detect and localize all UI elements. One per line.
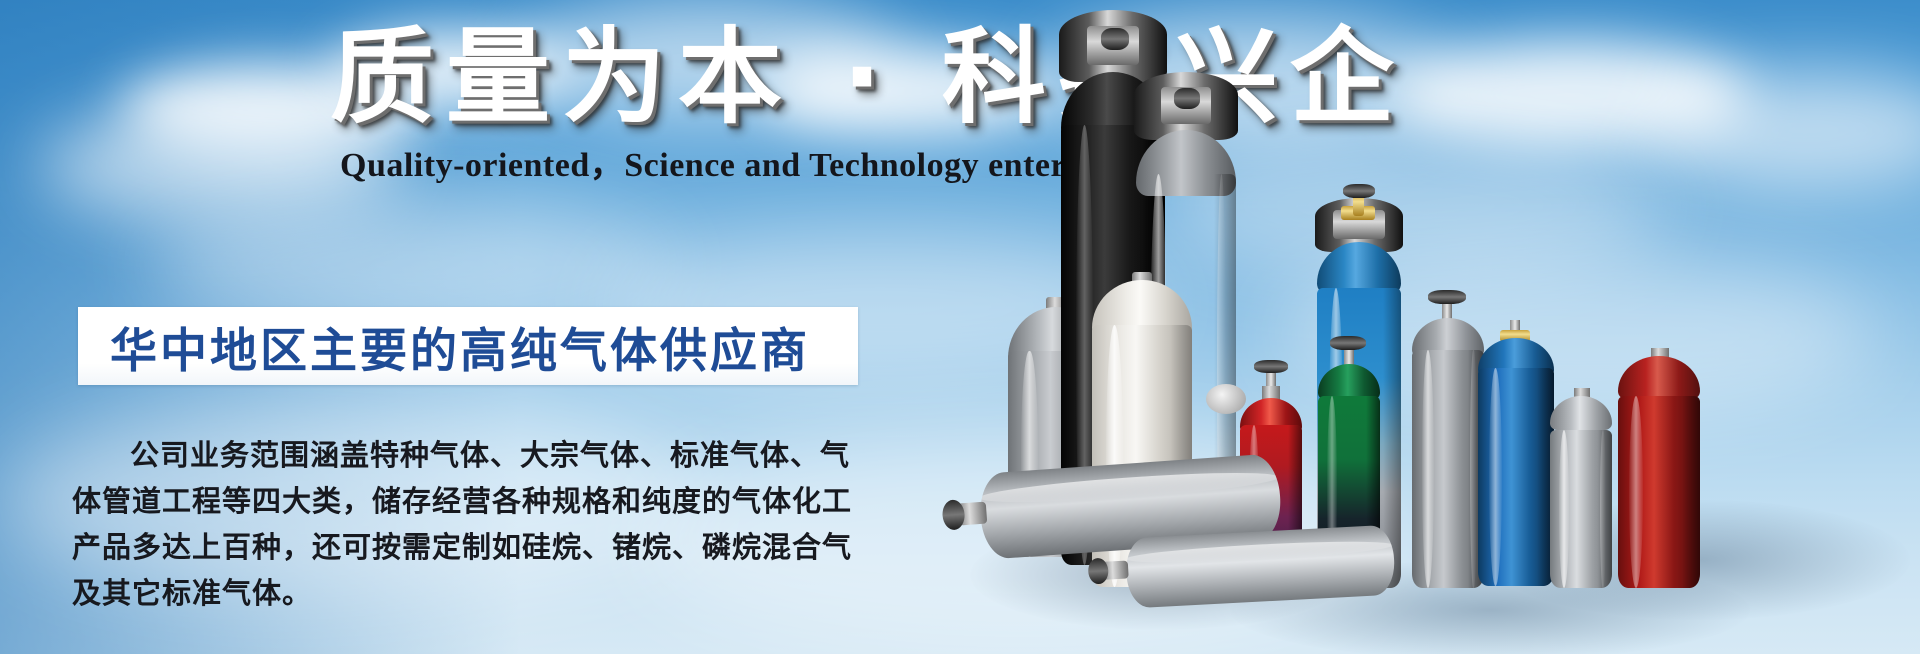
cylinder-lying-small — [1100, 514, 1404, 610]
promotional-banner: 质量为本 · 科技兴企 Quality-oriented，Science and… — [0, 0, 1920, 654]
cylinder-body — [1125, 525, 1396, 609]
cylinder-valve — [1174, 88, 1200, 109]
slogan-text: 华中地区主要的高纯气体供应商 — [110, 313, 850, 379]
cylinder-valve — [1088, 558, 1109, 585]
cylinder-valve — [1101, 28, 1129, 50]
body-paragraph-text: 公司业务范围涵盖特种气体、大宗气体、标准气体、气体管道工程等四大类，储存经营各种… — [72, 432, 862, 616]
cylinder-grey-slim — [1412, 298, 1484, 588]
cylinder-valve-cap — [1343, 184, 1375, 198]
cylinder-body — [1618, 396, 1700, 588]
cylinder-valve — [1330, 336, 1366, 350]
cylinder-red-short-right — [1618, 348, 1700, 588]
cylinder-body — [1550, 430, 1612, 588]
cylinder-valve — [1254, 360, 1288, 373]
cylinder-blue-small — [1478, 318, 1554, 586]
body-paragraph: 公司业务范围涵盖特种气体、大宗气体、标准气体、气体管道工程等四大类，储存经营各种… — [72, 432, 862, 616]
cylinder-shoulder — [1550, 396, 1612, 430]
cylinder-shoulder — [1318, 364, 1380, 400]
cylinder-valve — [1428, 290, 1466, 304]
cylinder-shoulder — [1618, 356, 1700, 400]
cylinder-body — [1478, 368, 1554, 586]
cylinder-body — [1412, 350, 1484, 588]
cylinder-aluminium-slim — [1550, 388, 1612, 588]
gas-cylinder-group — [930, 0, 1920, 654]
pressure-gauge — [1206, 384, 1246, 414]
